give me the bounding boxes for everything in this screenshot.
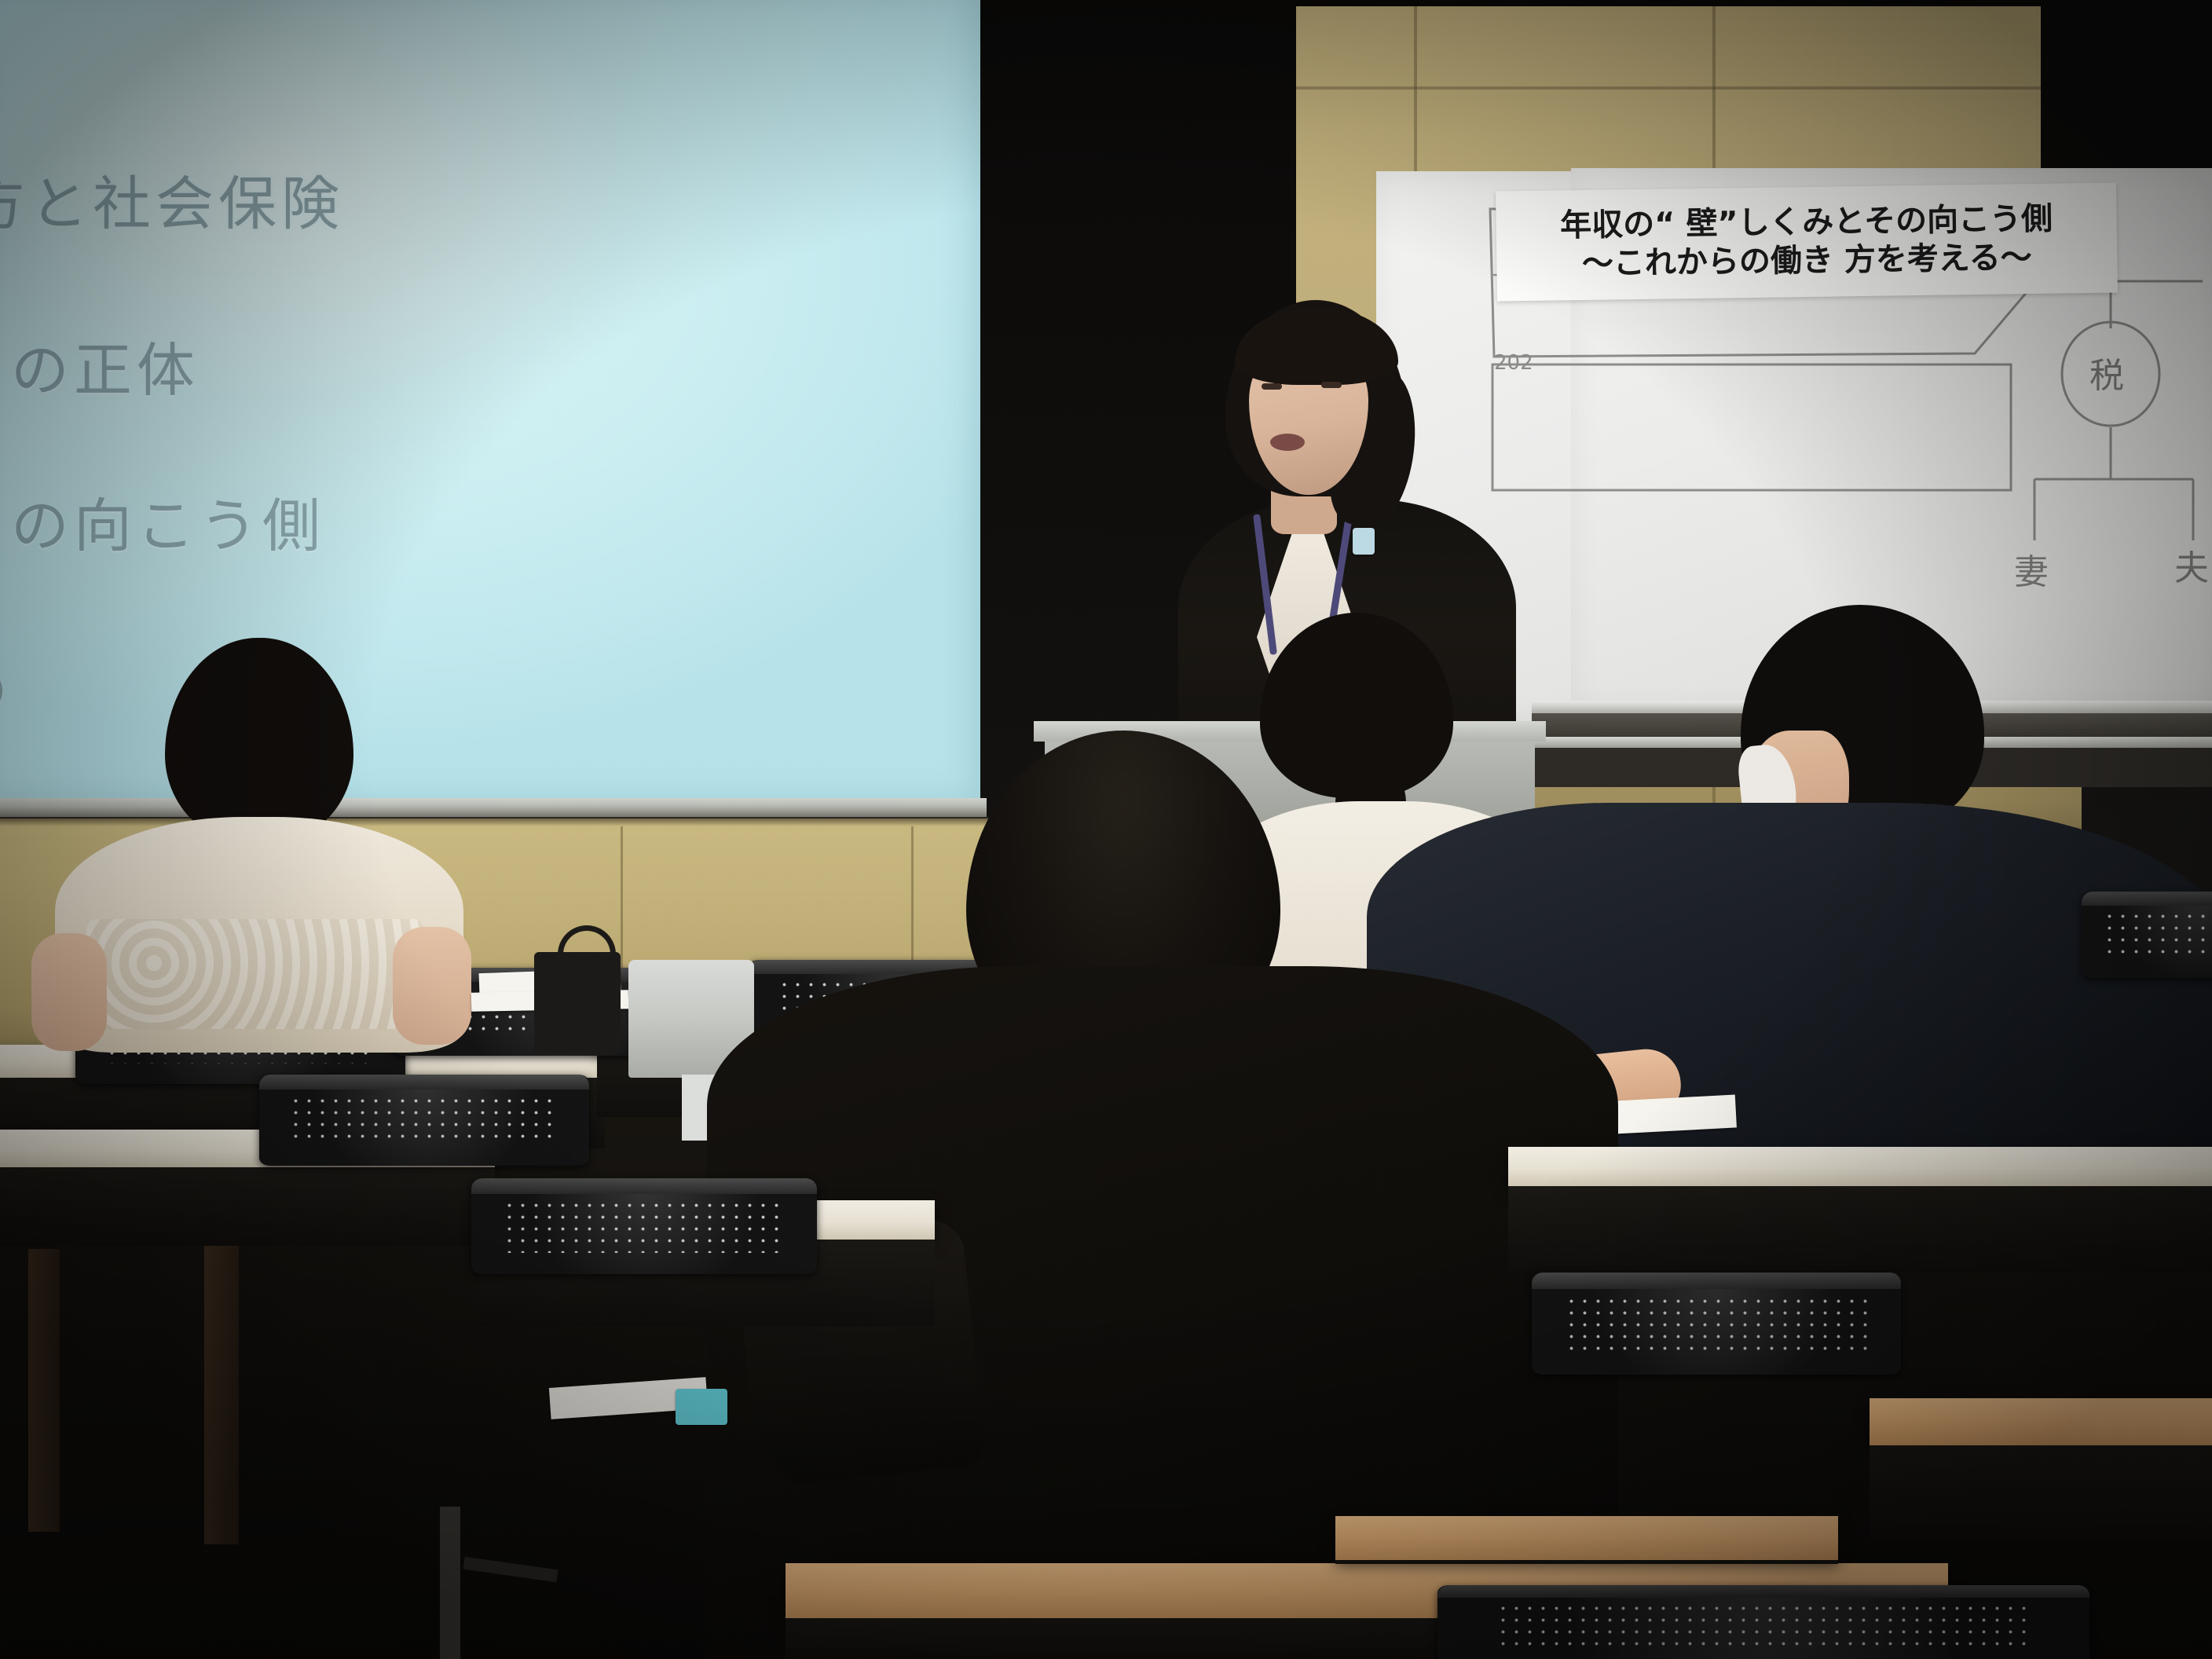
whiteboard-title-sign: 年収の“ 壁”しくみとその向こう側 〜これからの働き 方を考える〜 [1496, 182, 2118, 301]
chair-foreground[interactable] [1437, 1585, 2089, 1659]
presenter-badge [1353, 528, 1375, 555]
desk-row2-left-leg-2 [28, 1249, 60, 1532]
teal-object [676, 1389, 727, 1425]
black-bag [534, 952, 621, 1054]
screen-bottom-frame [0, 798, 987, 819]
slide-text-line-3: ” の向こう側 [0, 479, 325, 563]
chair-row2-right[interactable] [1532, 1273, 1901, 1375]
desk-row2-right [1508, 1147, 2212, 1186]
desk-foreground-right-front [1870, 1445, 2212, 1540]
slide-text-line-1: 方と社会保険 [0, 157, 344, 241]
chair-row2-b[interactable] [471, 1178, 817, 1274]
desk-foreground-right [1870, 1398, 2212, 1445]
attendee-front-left-arm-right [393, 927, 471, 1045]
attendee-front-left-arm-left [31, 933, 107, 1051]
floor-stand-pole [440, 1507, 460, 1659]
desk-row2-right-front [1508, 1186, 2212, 1273]
dark-wall-corner [2041, 0, 2212, 196]
presenter-eye-right [1321, 382, 1342, 388]
presenter-eye-left [1262, 383, 1282, 390]
attendee-front-left-lace-pattern [86, 919, 424, 1029]
slide-text-line-4: の [0, 644, 13, 728]
sign-line-1: 年収の“ 壁”しくみとその向こう側 [1560, 200, 2053, 246]
seminar-room-photo: 方と社会保険 ” の正体 ” の向こう側 の 202 税 妻 夫 年収の“ 壁”… [0, 0, 2212, 1659]
slide-text-line-2: ” の正体 [0, 324, 200, 408]
chair-row2-a[interactable] [259, 1075, 589, 1166]
desk-row2-left-front [0, 1167, 495, 1246]
chair-row1-far-right[interactable] [2082, 892, 2212, 978]
sign-line-2: 〜これからの働き 方を考える〜 [1582, 239, 2032, 284]
desk-row2-left-leg [204, 1246, 239, 1544]
presenter-mouth [1270, 434, 1305, 451]
desk-foreground-mid [1335, 1516, 1838, 1560]
